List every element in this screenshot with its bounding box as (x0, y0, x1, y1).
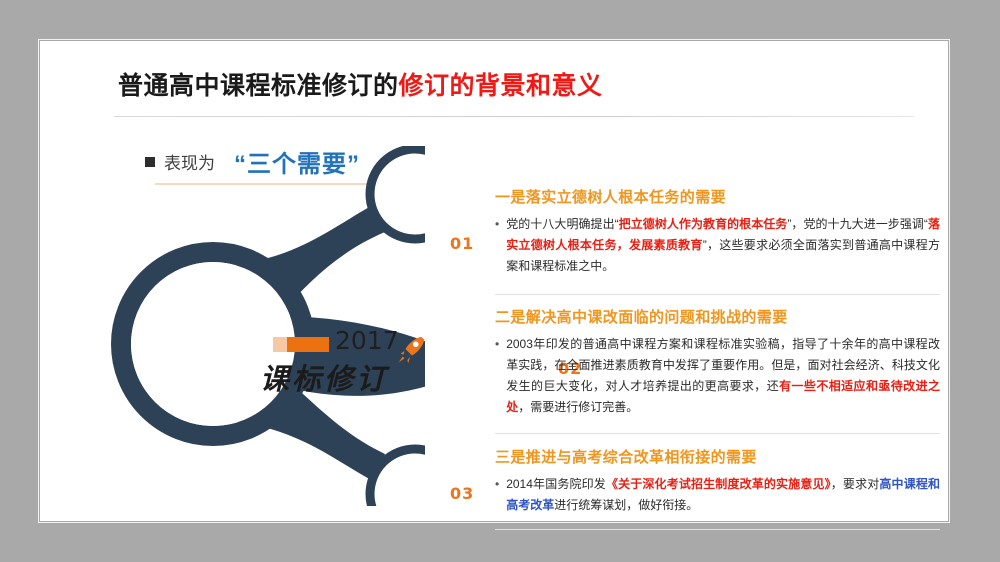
content-block-3-text: 2014年国务院印发《关于深化考试招生制度改革的实施意见》，要求对高中课程和高考… (506, 474, 940, 516)
block-divider-3 (495, 529, 940, 530)
content-block-3-heading: 三是推进与高考综合改革相衔接的需要 (495, 446, 940, 467)
page-title-plain: 普通高中课程标准修订的 (118, 72, 399, 100)
presentation-slide: 普通高中课程标准修订的修订的背景和意义 表现为 “三个需要” (40, 41, 948, 521)
content-block-2-body: • 2003年印发的普通高中课程方案和课程标准实验稿，指导了十余年的高中课程改革… (495, 334, 940, 418)
page-title: 普通高中课程标准修订的修订的背景和意义 (118, 66, 603, 102)
bullet-dot-2: • (495, 334, 499, 418)
content-block-1: 一是落实立德树人根本任务的需要 • 党的十八大明确提出“把立德树人作为教育的根本… (495, 186, 940, 277)
content-block-3: 三是推进与高考综合改革相衔接的需要 • 2014年国务院印发《关于深化考试招生制… (495, 446, 940, 516)
content-block-1-body: • 党的十八大明确提出“把立德树人作为教育的根本任务”，党的十九大进一步强调“落… (495, 214, 940, 277)
center-node-label: 课标修订 (260, 356, 388, 398)
content-block-2: 二是解决高中课改面临的问题和挑战的需要 • 2003年印发的普通高中课程方案和课… (495, 306, 940, 418)
rocket-icon (397, 334, 427, 364)
orange-bar-icon (273, 337, 329, 352)
bullet-dot-3: • (495, 474, 499, 516)
title-divider (114, 116, 914, 117)
node-03-number: 03 (450, 484, 474, 503)
content-block-2-heading: 二是解决高中课改面临的问题和挑战的需要 (495, 306, 940, 327)
bullet-dot-1: • (495, 214, 499, 277)
slide-viewer: 普通高中课程标准修订的修订的背景和意义 表现为 “三个需要” (0, 0, 1000, 562)
block-divider-1 (495, 294, 940, 295)
content-block-2-text: 2003年印发的普通高中课程方案和课程标准实验稿，指导了十余年的高中课程改革实践… (506, 334, 940, 418)
content-block-3-body: • 2014年国务院印发《关于深化考试招生制度改革的实施意见》，要求对高中课程和… (495, 474, 940, 516)
content-block-1-text: 党的十八大明确提出“把立德树人作为教育的根本任务”，党的十九大进一步强调“落实立… (506, 214, 940, 277)
node-01-number: 01 (450, 234, 474, 253)
center-node-year: 2017 (335, 326, 399, 355)
center-node-fill (131, 262, 295, 426)
node-01-ring (370, 149, 425, 239)
mindmap-diagram: 2017 课标修订 01 02 03 (85, 146, 425, 506)
content-block-1-heading: 一是落实立德树人根本任务的需要 (495, 186, 940, 207)
page-title-accent: 修订的背景和意义 (399, 72, 603, 100)
block-divider-2 (495, 433, 940, 434)
